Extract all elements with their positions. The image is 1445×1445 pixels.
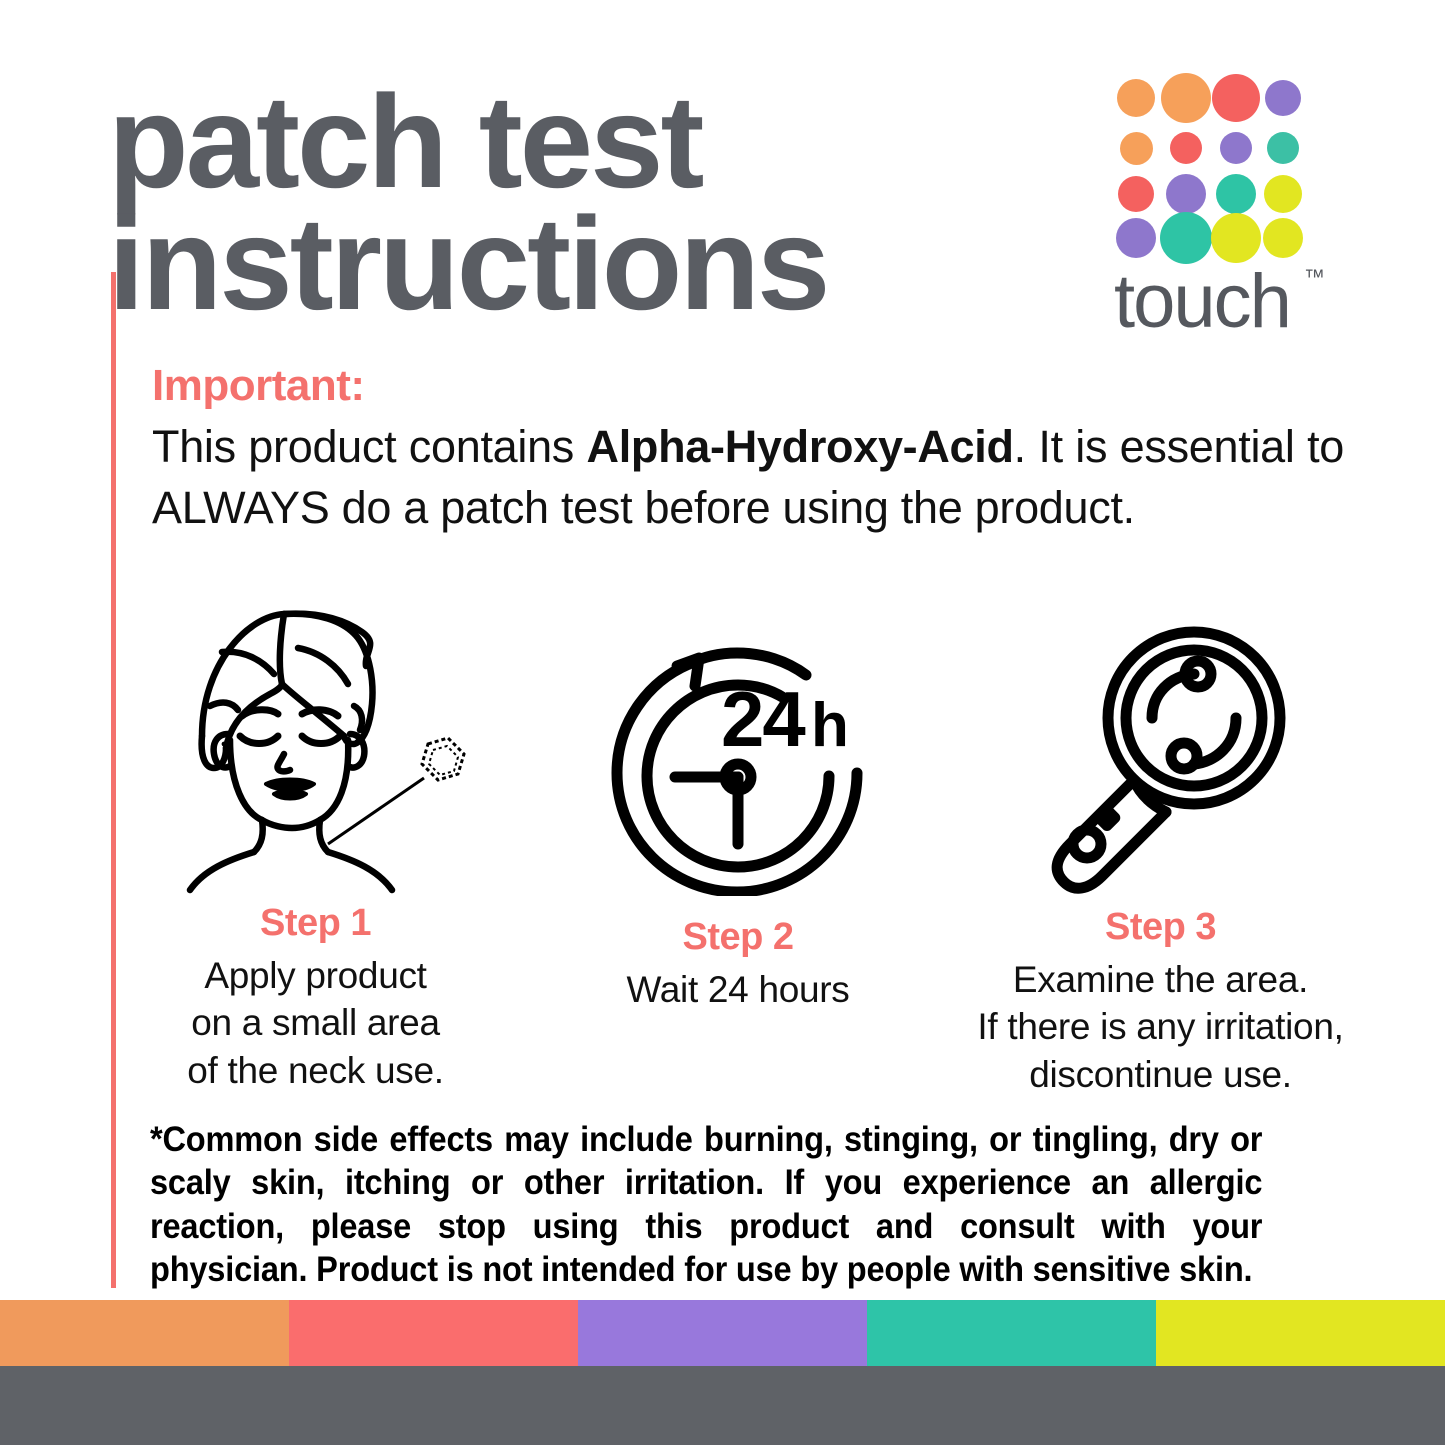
footer-color-bar-3	[578, 1300, 867, 1366]
logo-dot-r2-c1	[1120, 132, 1153, 165]
logo-dot-r4-c1	[1116, 218, 1156, 258]
footer-color-bar-1	[0, 1300, 289, 1366]
footer-color-bars	[0, 1300, 1445, 1366]
logo-dot-r2-c4	[1267, 132, 1299, 164]
footer-color-bar-4	[867, 1300, 1156, 1366]
logo-dot-r3-c3	[1216, 174, 1256, 214]
step-3: Step 3 Examine the area. If there is any…	[963, 608, 1358, 1098]
footer-color-bar-5	[1156, 1300, 1445, 1366]
logo-wordmark: touch	[1114, 264, 1290, 340]
logo-dot-r4-c4	[1263, 218, 1303, 258]
magnifying-glass-icon	[1016, 622, 1306, 894]
logo-dot-r2-c2	[1170, 132, 1202, 164]
footer-color-bar-2	[289, 1300, 578, 1366]
logo-dot-r2-c3	[1220, 132, 1252, 164]
step-2-artwork: 24 h	[603, 608, 873, 896]
touch-logo: touch ™	[1108, 72, 1318, 352]
patch-test-instructions-card: patch test instructions touch ™ Importan…	[0, 0, 1445, 1445]
disclaimer-text: *Common side effects may include burning…	[150, 1118, 1262, 1292]
accent-vertical-rule	[111, 272, 116, 1288]
logo-dot-r1-c2	[1161, 73, 1211, 123]
logo-dot-r4-c2	[1160, 212, 1212, 264]
logo-dot-r3-c1	[1118, 176, 1154, 212]
svg-text:h: h	[811, 691, 849, 760]
logo-dot-r1-c4	[1265, 80, 1301, 116]
logo-dot-r1-c1	[1117, 79, 1155, 117]
header: patch test instructions touch ™	[0, 0, 1445, 360]
logo-dot-grid	[1108, 72, 1308, 257]
intro-text-bold: Alpha-Hydroxy-Acid	[587, 421, 1014, 472]
step-2-text: Wait 24 hours	[627, 966, 850, 1013]
title-line-2: instructions	[108, 200, 1068, 328]
logo-dot-r4-c3	[1211, 213, 1261, 263]
important-heading: Important:	[152, 363, 1344, 409]
clock-24h-icon: 24 h	[603, 638, 873, 896]
step-1-label: Step 1	[260, 904, 371, 942]
step-1-text: Apply product on a small area of the nec…	[187, 952, 443, 1094]
title-line-1: patch test	[108, 78, 1068, 206]
footer	[0, 1300, 1445, 1445]
steps-row: Step 1 Apply product on a small area of …	[118, 608, 1358, 1098]
face-towel-patch-icon	[166, 608, 466, 898]
intro-paragraph: This product contains Alpha-Hydroxy-Acid…	[152, 417, 1344, 539]
patch-swatch	[422, 738, 464, 780]
logo-dot-r3-c2	[1166, 174, 1206, 214]
step-2: 24 h Step 2 Wait 24 hours	[541, 608, 936, 1013]
step-3-artwork	[1016, 608, 1306, 894]
step-3-label: Step 3	[1105, 908, 1216, 946]
page-title: patch test instructions	[108, 78, 1068, 328]
intro-text-part1: This product contains	[152, 421, 587, 472]
svg-text:24: 24	[721, 675, 805, 763]
step-1-artwork	[166, 608, 466, 890]
step-1: Step 1 Apply product on a small area of …	[118, 608, 513, 1094]
intro-block: Important: This product contains Alpha-H…	[152, 363, 1344, 539]
footer-grey-band	[0, 1366, 1445, 1445]
step-3-text: Examine the area. If there is any irrita…	[977, 956, 1343, 1098]
logo-dot-r3-c4	[1264, 175, 1302, 213]
logo-dot-r1-c3	[1212, 74, 1260, 122]
step-2-label: Step 2	[682, 918, 793, 956]
trademark-symbol: ™	[1304, 266, 1325, 290]
